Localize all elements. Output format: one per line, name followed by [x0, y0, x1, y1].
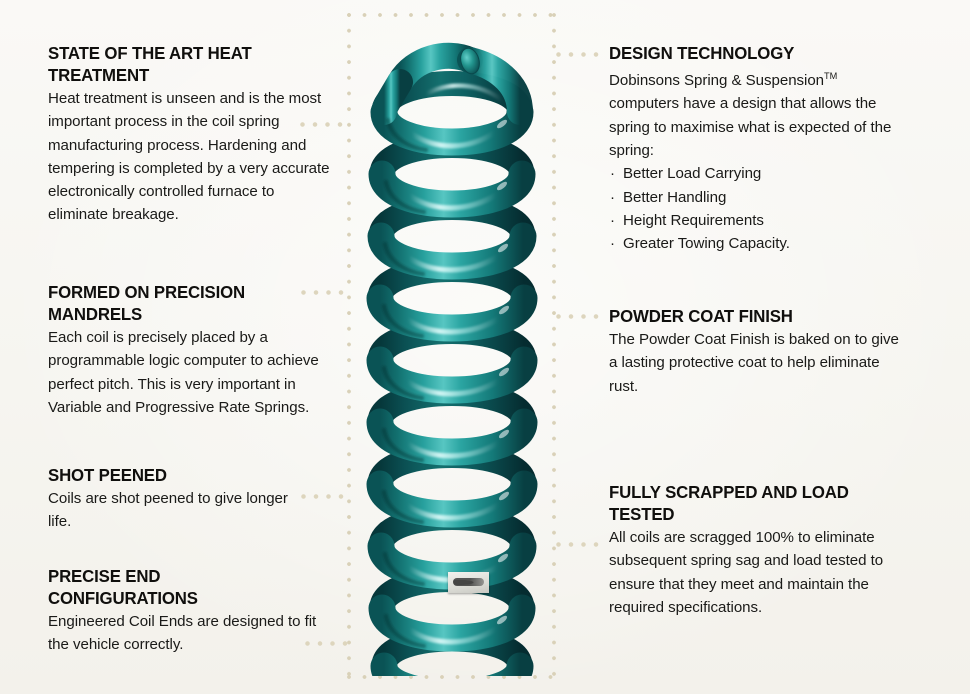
list-item-label: Greater Towing Capacity.	[623, 235, 790, 252]
list-item-label: Better Load Carrying	[623, 165, 761, 182]
feature-block-powder-coat-finish: POWDER COAT FINISH The Powder Coat Finis…	[609, 305, 907, 398]
feature-body-precision-mandrels: Each coil is precisely placed by a progr…	[48, 326, 328, 419]
feature-title-powder-coat-finish: POWDER COAT FINISH	[609, 305, 894, 327]
feature-body-fully-scrapped-load-tested: All coils are scragged 100% to eliminate…	[609, 526, 906, 619]
feature-title-precise-end-configurations: PRECISE END CONFIGURATIONS	[48, 565, 313, 609]
frame-left-dotted-edge	[347, 13, 351, 679]
feature-body-design-technology-part2: computers have a design that allows the …	[609, 95, 891, 159]
product-label-tag	[448, 572, 489, 593]
design-technology-benefit-list: ·Better Load Carrying ·Better Handling ·…	[609, 162, 909, 255]
feature-block-heat-treatment: STATE OF THE ART HEAT TREATMENT Heat tre…	[48, 42, 333, 227]
feature-body-design-technology: Dobinsons Spring & SuspensionTM computer…	[609, 65, 909, 162]
list-item: ·Greater Towing Capacity.	[609, 232, 909, 255]
feature-body-powder-coat-finish: The Powder Coat Finish is baked on to gi…	[609, 328, 907, 398]
bullet-dot-icon: ·	[610, 232, 615, 255]
feature-body-precise-end-configurations: Engineered Coil Ends are designed to fit…	[48, 610, 326, 657]
list-item: ·Height Requirements	[609, 209, 909, 232]
leader-line-fully-scrapped-load-tested	[556, 542, 604, 547]
leader-line-design-technology	[556, 52, 604, 57]
list-item: ·Better Handling	[609, 186, 909, 209]
feature-block-precision-mandrels: FORMED ON PRECISION MANDRELS Each coil i…	[48, 281, 328, 419]
feature-body-shot-peened: Coils are shot peened to give longer lif…	[48, 487, 310, 534]
feature-title-heat-treatment: STATE OF THE ART HEAT TREATMENT	[48, 42, 320, 86]
feature-body-heat-treatment: Heat treatment is unseen and is the most…	[48, 87, 333, 227]
list-item-label: Height Requirements	[623, 212, 764, 229]
feature-title-precision-mandrels: FORMED ON PRECISION MANDRELS	[48, 281, 315, 325]
feature-block-shot-peened: SHOT PEENED Coils are shot peened to giv…	[48, 464, 310, 534]
feature-block-design-technology: DESIGN TECHNOLOGY Dobinsons Spring & Sus…	[609, 42, 909, 255]
list-item: ·Better Load Carrying	[609, 162, 909, 185]
feature-title-shot-peened: SHOT PEENED	[48, 464, 298, 486]
feature-title-fully-scrapped-load-tested: FULLY SCRAPPED AND LOAD TESTED	[609, 481, 893, 525]
bullet-dot-icon: ·	[610, 209, 615, 232]
feature-body-design-technology-part1: Dobinsons Spring & Suspension	[609, 72, 824, 89]
frame-right-dotted-edge	[552, 13, 556, 679]
feature-block-precise-end-configurations: PRECISE END CONFIGURATIONS Engineered Co…	[48, 565, 326, 657]
feature-block-fully-scrapped-load-tested: FULLY SCRAPPED AND LOAD TESTED All coils…	[609, 481, 906, 619]
tag-print-mark	[453, 578, 484, 586]
trademark-superscript: TM	[824, 71, 837, 81]
list-item-label: Better Handling	[623, 189, 726, 206]
feature-title-design-technology: DESIGN TECHNOLOGY	[609, 42, 896, 64]
bullet-dot-icon: ·	[610, 186, 615, 209]
bullet-dot-icon: ·	[610, 162, 615, 185]
infographic-canvas: STATE OF THE ART HEAT TREATMENT Heat tre…	[0, 0, 970, 694]
leader-line-powder-coat-finish	[556, 314, 604, 319]
